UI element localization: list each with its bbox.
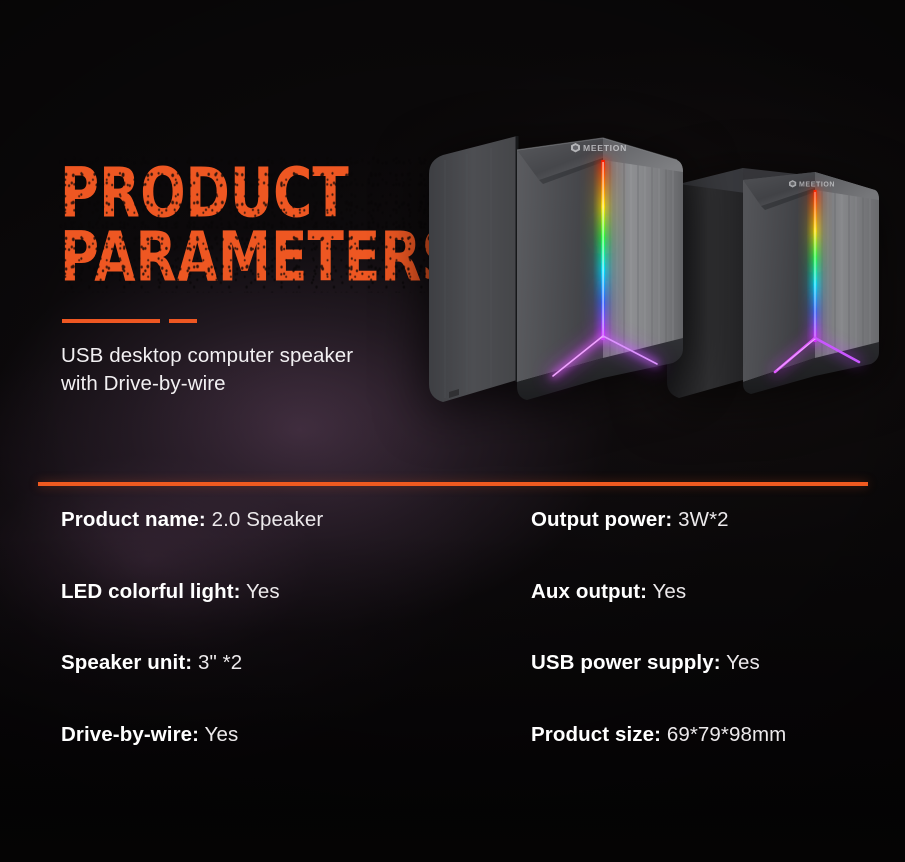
spec-row-usb-power-supply: USB power supply: Yes — [531, 651, 891, 723]
spec-label: Speaker unit: — [61, 651, 192, 674]
product-parameters-banner: PRODUCT PARAMETERS USB desktop computer … — [0, 0, 905, 862]
spec-value: 3" *2 — [198, 651, 242, 674]
svg-text:MEETION: MEETION — [799, 182, 835, 189]
product-image: MEETION — [425, 130, 895, 460]
svg-text:MEETION: MEETION — [583, 143, 627, 153]
title-underline-dashes — [62, 319, 197, 323]
spec-column-left: Product name: 2.0 Speaker LED colorful l… — [61, 508, 501, 794]
spec-label: USB power supply: — [531, 651, 721, 674]
spec-column-right: Output power: 3W*2 Aux output: Yes USB p… — [531, 508, 891, 794]
spec-row-output-power: Output power: 3W*2 — [531, 508, 891, 580]
spec-row-speaker-unit: Speaker unit: 3" *2 — [61, 651, 501, 723]
spec-value: Yes — [246, 580, 280, 603]
page-title-line-2: PARAMETERS — [60, 224, 446, 290]
spec-label: Product size: — [531, 723, 661, 746]
spec-value: Yes — [653, 580, 687, 603]
spec-row-led-colorful-light: LED colorful light: Yes — [61, 580, 501, 652]
spec-row-product-size: Product size: 69*79*98mm — [531, 723, 891, 795]
spec-table: Product name: 2.0 Speaker LED colorful l… — [0, 508, 905, 778]
spec-label: Output power: — [531, 508, 672, 531]
page-subtitle-line-2: with Drive-by-wire — [61, 370, 461, 398]
dash-long — [62, 319, 160, 323]
front-speaker: MEETION — [425, 130, 685, 430]
spec-label: Drive-by-wire: — [61, 723, 199, 746]
dash-short — [169, 319, 197, 323]
spec-label: LED colorful light: — [61, 580, 241, 603]
page-title: PRODUCT PARAMETERS — [60, 160, 480, 280]
spec-value: 3W*2 — [678, 508, 729, 531]
section-divider — [38, 482, 868, 486]
spec-label: Aux output: — [531, 580, 647, 603]
rear-speaker: MEETION — [665, 162, 880, 427]
spec-value: Yes — [205, 723, 239, 746]
spec-row-drive-by-wire: Drive-by-wire: Yes — [61, 723, 501, 795]
spec-row-product-name: Product name: 2.0 Speaker — [61, 508, 501, 580]
spec-value: 69*79*98mm — [667, 723, 787, 746]
spec-row-aux-output: Aux output: Yes — [531, 580, 891, 652]
page-subtitle-line-1: USB desktop computer speaker — [61, 342, 461, 370]
spec-value: Yes — [726, 651, 760, 674]
spec-label: Product name: — [61, 508, 206, 531]
spec-value: 2.0 Speaker — [212, 508, 324, 531]
page-subtitle: USB desktop computer speaker with Drive-… — [61, 342, 461, 398]
